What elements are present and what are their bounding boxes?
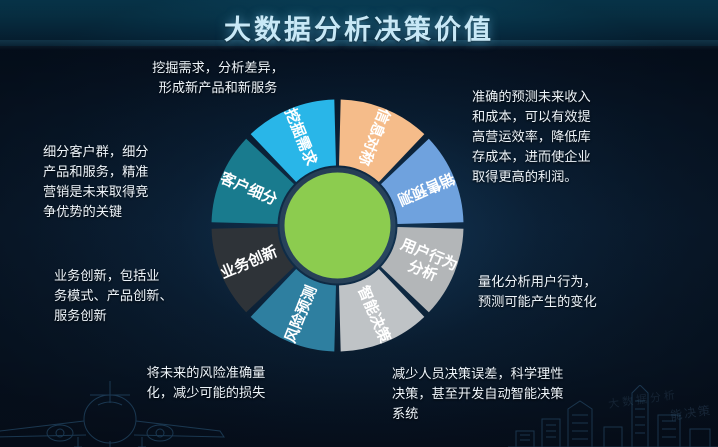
note-customer-segment: 细分客户群，细分 产品和服务，精准 营销是未来取得竞 争优势的关键 bbox=[43, 143, 218, 223]
donut-diagram: 信息对称销售预测用户行为分析智能决策风险预测业务创新客户细分挖掘需求 bbox=[209, 97, 466, 354]
note-business-innovation: 业务创新，包括业 务模式、产品创新、 服务创新 bbox=[54, 267, 229, 327]
donut-center-hub[interactable] bbox=[285, 173, 391, 279]
note-user-behavior: 量化分析用户行为， 预测可能产生的变化 bbox=[478, 273, 688, 313]
note-smart-decision: 减少人员决策误差，科学理性 决策，甚至开发自动智能决策 系统 bbox=[392, 365, 637, 425]
donut-svg: 信息对称销售预测用户行为分析智能决策风险预测业务创新客户细分挖掘需求 bbox=[209, 97, 466, 354]
note-mine-demand: 挖掘需求，分析差异， 形成新产品和新服务 bbox=[108, 59, 328, 99]
note-risk-forecast: 将未来的风险准确量 化，减少可能的损失 bbox=[106, 364, 306, 404]
note-sales-forecast: 准确的预测未来收入 和成本，可以有效提 高营运效率，降低库 存成本，进而使企业 … bbox=[472, 88, 677, 188]
page-title: 大数据分析决策价值 bbox=[0, 8, 718, 47]
slide-canvas: 能决策 大数据分析 大数据分析决策价值 信息对称销售预测用户行为分析智能决策风险… bbox=[0, 0, 718, 447]
